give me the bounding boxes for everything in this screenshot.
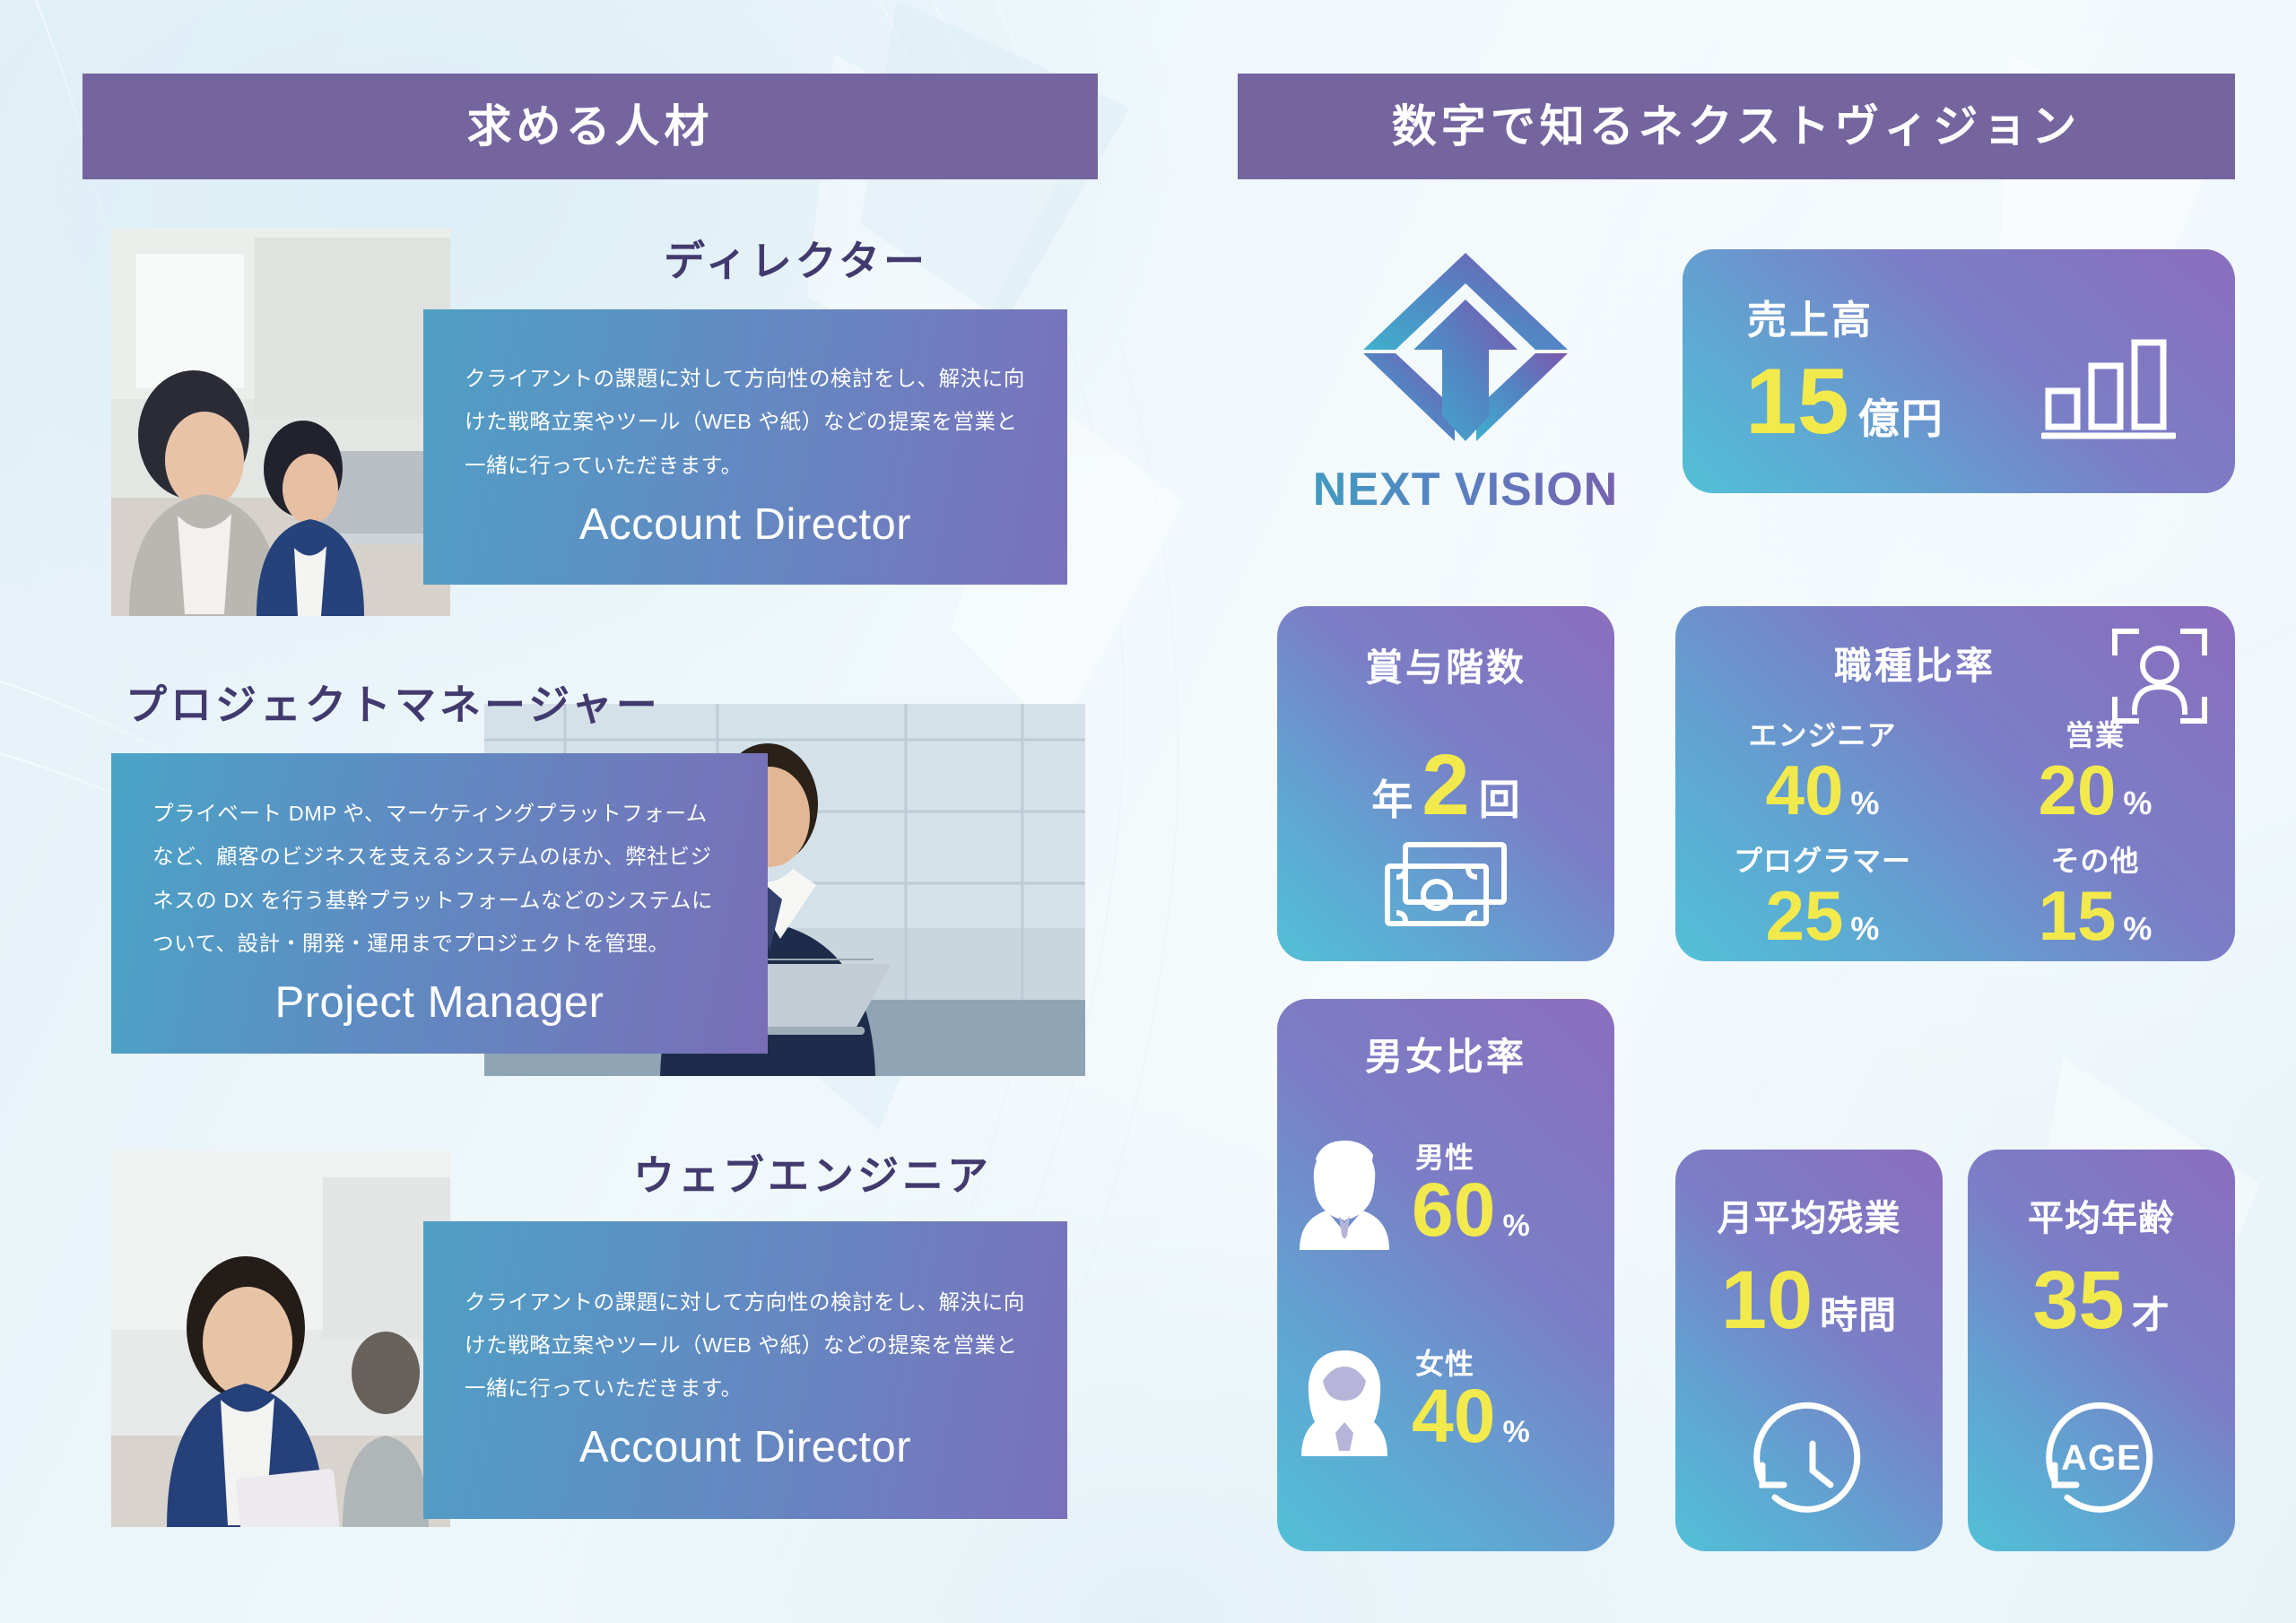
job-ratio-item-programmer-unit: % xyxy=(1850,913,1879,945)
job-ratio-item-other-value: 15 xyxy=(2039,881,2117,950)
stat-card-average-age-title: 平均年齢 xyxy=(1968,1189,2235,1241)
job-card-project-manager-role: Project Manager xyxy=(152,979,726,1028)
gender-ratio-item-female-unit: % xyxy=(1502,1417,1529,1447)
clock-refresh-icon xyxy=(1743,1392,1875,1524)
job-card-project-manager-heading: プロジェクトマネージャー xyxy=(126,684,661,725)
job-ratio-item-engineer-value: 40 xyxy=(1766,755,1844,825)
stat-card-bonus-title: 賞与階数 xyxy=(1277,649,1614,687)
job-ratio-item-engineer-label: エンジニア xyxy=(1683,721,1962,750)
job-card-director-heading: ディレクター xyxy=(664,240,928,282)
bar-chart-icon xyxy=(2041,335,2176,441)
stat-card-overtime-unit: 時間 xyxy=(1820,1297,1897,1334)
job-ratio-item-programmer-value: 25 xyxy=(1766,881,1844,950)
woman-office-photo xyxy=(111,1150,450,1527)
job-ratio-item-other: その他 15 % xyxy=(1955,846,2235,950)
stat-card-average-age-unit: 才 xyxy=(2132,1297,2170,1334)
job-ratio-item-sales-value: 20 xyxy=(2039,755,2117,825)
section-header-jobs: 求める人材 xyxy=(83,74,1098,179)
job-ratio-item-other-label: その他 xyxy=(1955,846,2235,875)
stat-card-gender-ratio: 男女比率 男性 60 % xyxy=(1277,999,1614,1551)
job-card-web-engineer-role: Account Director xyxy=(465,1424,1026,1472)
stat-card-bonus: 賞与階数 年 2 回 xyxy=(1277,606,1614,961)
stat-card-overtime-value: 10 xyxy=(1721,1259,1813,1341)
job-card-project-manager-panel: プライベート DMP や、マーケティングプラットフォームなど、顧客のビジネスを支… xyxy=(111,753,768,1054)
job-card-web-engineer-body: クライアントの課題に対して方向性の検討をし、解決に向けた戦略立案やツール（WEB… xyxy=(465,1280,1026,1410)
job-ratio-item-programmer: プログラマー 25 % xyxy=(1683,846,1962,950)
job-ratio-item-sales-label: 営業 xyxy=(1955,721,2235,750)
job-card-project-manager-body: プライベート DMP や、マーケティングプラットフォームなど、顧客のビジネスを支… xyxy=(152,792,726,965)
job-ratio-item-engineer: エンジニア 40 % xyxy=(1683,721,1962,825)
stat-card-revenue-unit: 億円 xyxy=(1858,398,1944,439)
office-meeting-photo xyxy=(111,229,450,616)
stat-card-gender-ratio-title: 男女比率 xyxy=(1277,1038,1614,1076)
brochure-page: 求める人材 数字で知るネクストヴィジョン xyxy=(0,0,2296,1623)
stat-card-overtime-title: 月平均残業 xyxy=(1675,1189,1943,1241)
age-circle-icon-label: AGE xyxy=(2061,1440,2142,1476)
stat-card-average-age: 平均年齢 35 才 AGE xyxy=(1968,1150,2235,1551)
job-card-web-engineer-heading: ウェブエンジニア xyxy=(633,1155,992,1196)
job-ratio-item-sales: 営業 20 % xyxy=(1955,721,2235,825)
age-circle-icon: AGE xyxy=(2035,1392,2168,1524)
stat-card-overtime: 月平均残業 10 時間 xyxy=(1675,1150,1943,1551)
next-vision-diamond-arrow-logo-icon xyxy=(1360,249,1571,452)
stat-card-bonus-unit: 回 xyxy=(1479,779,1520,820)
job-ratio-item-engineer-unit: % xyxy=(1850,787,1879,820)
company-logo: NEXT VISION xyxy=(1299,249,1632,518)
stat-card-revenue: 売上高 15 億円 xyxy=(1683,249,2235,493)
stat-card-average-age-value: 35 xyxy=(2032,1259,2124,1341)
female-avatar-icon xyxy=(1277,1347,1412,1456)
stat-card-job-ratio: 職種比率 エンジニア 40 % 営業 20 % xyxy=(1675,606,2235,961)
company-logo-text: NEXT VISION xyxy=(1299,466,1632,513)
stat-card-bonus-value: 2 xyxy=(1422,742,1469,829)
male-avatar-icon xyxy=(1277,1141,1412,1250)
gender-ratio-item-male-unit: % xyxy=(1502,1211,1529,1241)
job-card-web-engineer-photo xyxy=(111,1150,450,1527)
gender-ratio-item-male-value: 60 xyxy=(1412,1172,1495,1247)
section-header-jobs-title: 求める人材 xyxy=(467,104,714,149)
job-card-web-engineer-panel: クライアントの課題に対して方向性の検討をし、解決に向けた戦略立案やツール（WEB… xyxy=(423,1221,1067,1519)
job-card-director-photo xyxy=(111,229,450,616)
job-ratio-item-programmer-label: プログラマー xyxy=(1683,846,1962,875)
stat-card-average-age-value-group: 35 才 xyxy=(1968,1259,2235,1341)
job-card-director-panel: クライアントの課題に対して方向性の検討をし、解決に向けた戦略立案やツール（WEB… xyxy=(423,309,1067,585)
section-header-numbers-title: 数字で知るネクストヴィジョン xyxy=(1392,104,2082,149)
stat-card-bonus-value-group: 年 2 回 xyxy=(1277,742,1614,829)
job-card-director-body: クライアントの課題に対して方向性の検討をし、解決に向けた戦略立案やツール（WEB… xyxy=(465,357,1026,487)
job-ratio-item-sales-unit: % xyxy=(2123,787,2152,820)
section-header-numbers: 数字で知るネクストヴィジョン xyxy=(1238,74,2235,179)
banknote-icon xyxy=(1382,838,1509,931)
stat-card-bonus-prefix: 年 xyxy=(1371,779,1413,820)
gender-ratio-item-female-value: 40 xyxy=(1412,1378,1495,1454)
job-ratio-item-other-unit: % xyxy=(2123,913,2152,945)
gender-ratio-item-male: 男性 60 % xyxy=(1277,1141,1614,1250)
stat-card-revenue-value: 15 xyxy=(1745,355,1849,448)
person-frame-icon xyxy=(2111,626,2208,726)
stat-card-overtime-value-group: 10 時間 xyxy=(1675,1259,1943,1341)
job-card-director-role: Account Director xyxy=(465,501,1026,550)
gender-ratio-item-female: 女性 40 % xyxy=(1277,1347,1614,1456)
stat-card-revenue-value-group: 15 億円 xyxy=(1745,355,1944,448)
